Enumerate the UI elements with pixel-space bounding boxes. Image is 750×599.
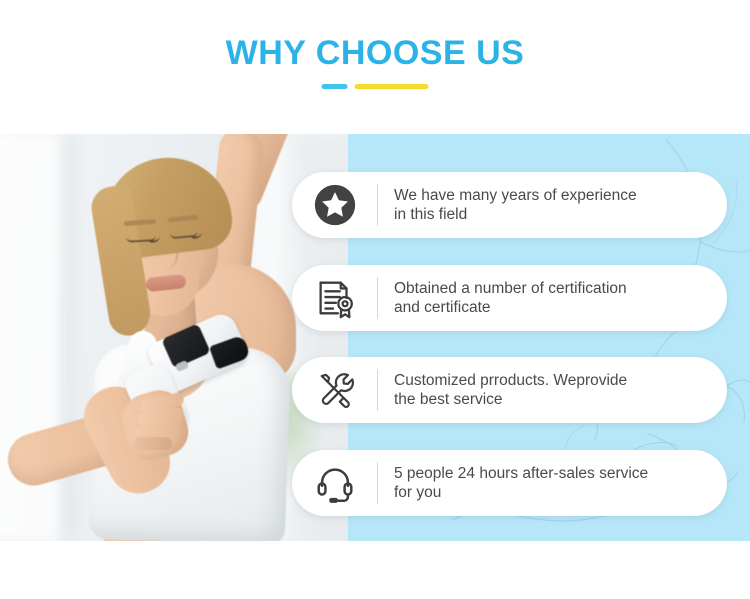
page-title: WHY CHOOSE US <box>0 34 750 73</box>
divider-dash-cyan <box>322 84 348 89</box>
feature-text: We have many years of experience in this… <box>378 186 651 224</box>
headset-icon <box>312 460 358 506</box>
feature-card[interactable]: We have many years of experience in this… <box>292 172 727 238</box>
feature-icon-wrap <box>292 265 378 331</box>
feature-icon-wrap <box>292 450 378 516</box>
feature-card[interactable]: Obtained a number of certification and c… <box>292 265 727 331</box>
tools-icon <box>312 367 358 413</box>
feature-text: Obtained a number of certification and c… <box>378 279 641 317</box>
feature-line-1: Obtained a number of certification <box>394 280 627 297</box>
feature-line-1: Customized prroducts. Weprovide <box>394 372 627 389</box>
divider-dash-yellow <box>355 84 429 89</box>
model-finger <box>134 437 172 450</box>
feature-line-2: for you <box>394 483 648 502</box>
feature-line-1: 5 people 24 hours after-sales service <box>394 465 648 482</box>
feature-card[interactable]: 5 people 24 hours after-sales service fo… <box>292 450 727 516</box>
feature-icon-wrap <box>292 357 378 423</box>
feature-line-1: We have many years of experience <box>394 187 637 204</box>
footer-spacer <box>0 541 750 599</box>
feature-icon-wrap <box>292 172 378 238</box>
feature-line-2: in this field <box>394 205 637 224</box>
header: WHY CHOOSE US <box>0 0 750 134</box>
feature-line-2: and certificate <box>394 298 627 317</box>
feature-line-2: the best service <box>394 390 627 409</box>
feature-text: Customized prroducts. Weprovide the best… <box>378 371 641 409</box>
content-band: We have many years of experience in this… <box>0 134 750 541</box>
feature-card[interactable]: Customized prroducts. Weprovide the best… <box>292 357 727 423</box>
certificate-icon <box>312 275 358 321</box>
title-divider <box>322 84 429 89</box>
feature-text: 5 people 24 hours after-sales service fo… <box>378 464 662 502</box>
star-badge-icon <box>312 182 358 228</box>
